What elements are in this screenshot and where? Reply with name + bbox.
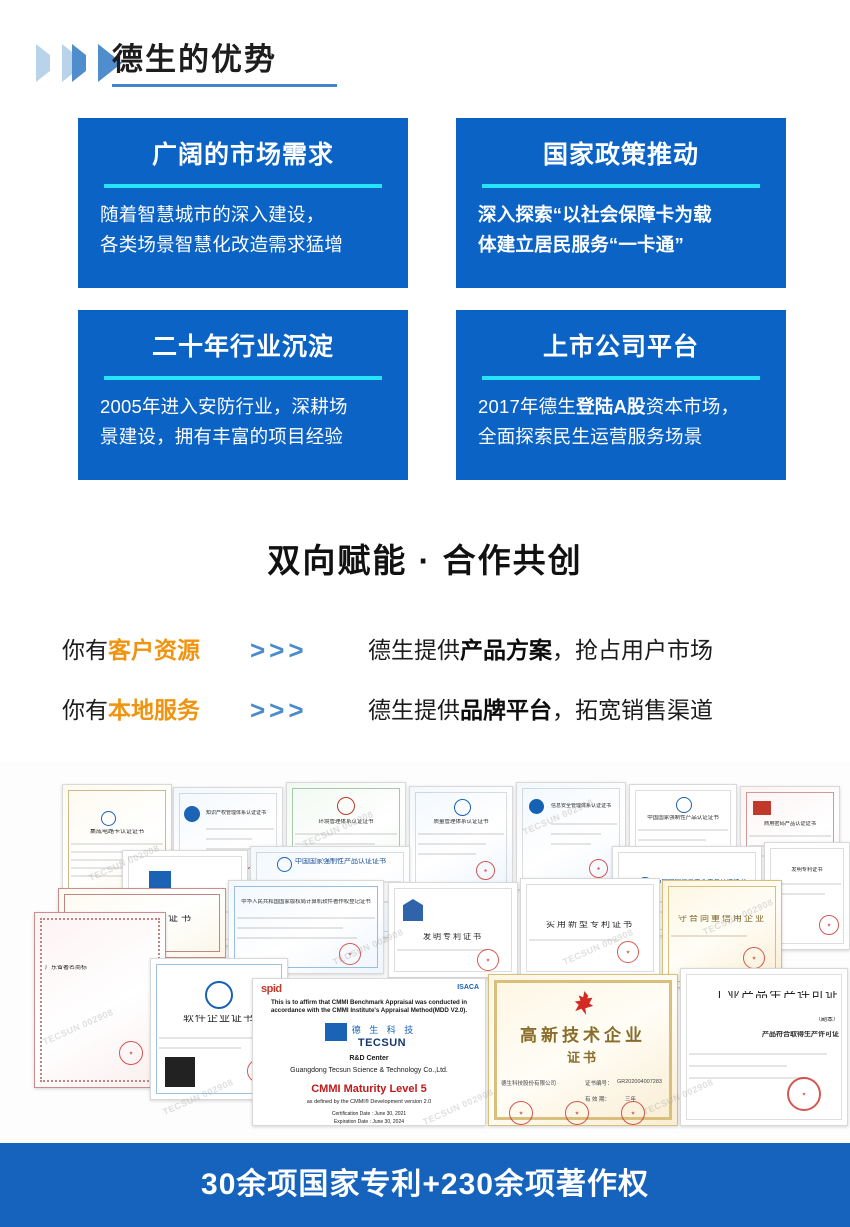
body-text-emphasis: 登陆A股 <box>576 396 646 417</box>
hitech-subtitle: 证书 <box>489 1047 677 1066</box>
cqc-logo-icon <box>753 801 771 815</box>
certificate-title: 中国国家强制性产品认证证书 <box>634 815 732 822</box>
certificate-title: 广东省著名商标 <box>45 965 155 972</box>
official-seal-icon <box>819 915 839 935</box>
certificate-title: 知识产权管理体系认证证书 <box>206 810 278 817</box>
tecsun-brand-en: TECSUN <box>279 1037 485 1049</box>
cvc-badge-icon <box>454 799 471 816</box>
synergy-section: 双向赋能 · 合作共创 你有客户资源 >>> 德生提供产品方案，抢占用户市场 你… <box>0 520 850 750</box>
advantage-card-body-line1: 深入探索“以社会保障卡为载 <box>478 200 770 230</box>
synergy-company-offer: 德生提供产品方案，抢占用户市场 <box>368 630 713 670</box>
advantage-card-body-line2: 全面探索民生运营服务场景 <box>478 422 770 452</box>
qr-code-icon <box>165 1057 195 1087</box>
synergy-left-prefix: 你有 <box>62 697 108 723</box>
certificate-title: 工业产品生产许可证 <box>689 991 839 998</box>
synergy-company-offer: 德生提供品牌平台，拓宽销售渠道 <box>368 690 713 730</box>
hitech-cert-no: GR202004007283 <box>617 1079 662 1085</box>
certificate-item[interactable]: 实用新型专利证书 <box>520 878 660 978</box>
advantage-card-body-line2: 体建立居民服务“一卡通” <box>478 230 770 260</box>
synergy-right-prefix: 德生提供 <box>368 697 460 723</box>
certificate-title: 发明专利证书 <box>393 933 513 940</box>
cmmi-company: Guangdong Tecsun Science & Technology Co… <box>259 1067 479 1075</box>
official-seal-icon <box>787 1077 821 1111</box>
advantage-card-title: 二十年行业沉淀 <box>78 331 408 363</box>
official-seal-icon <box>477 949 499 971</box>
official-seal-icon <box>476 861 495 880</box>
advantage-card-body: 2005年进入安防行业，深耕场 景建设，拥有丰富的项目经验 <box>100 392 392 452</box>
advantage-card-listed-company[interactable]: 上市公司平台 2017年德生登陆A股资本市场， 全面探索民生运营服务场景 <box>456 310 786 480</box>
advantage-card-body: 深入探索“以社会保障卡为载 体建立居民服务“一卡通” <box>478 200 770 260</box>
section-header: 德生的优势 <box>0 0 850 112</box>
hitech-cert-no-label: 证书编号： <box>585 1079 613 1087</box>
advantage-card-title: 国家政策推动 <box>456 139 786 171</box>
synergy-left-prefix: 你有 <box>62 637 108 663</box>
cmmi-statement-line2: accordance with the CMMI Institute's App… <box>259 1007 479 1015</box>
hitech-title: 高新技术企业 <box>489 1021 677 1046</box>
certificate-subtitle: （副本） <box>689 1017 839 1024</box>
icc-badge-icon <box>101 811 116 826</box>
body-text-post: 资本市场， <box>646 396 740 417</box>
certificate-item[interactable]: 信息安全管理体系认证证书 <box>516 782 626 890</box>
certificate-item[interactable]: 工业产品生产许可证 （副本） 产品符合取得生产许可证 <box>680 968 848 1126</box>
synergy-right-highlight: 产品方案 <box>460 637 552 663</box>
tecsun-brand-cn: 德 生 科 技 <box>283 1023 485 1036</box>
card-divider <box>482 184 760 188</box>
certificate-collage: 集成电路卡认证证书 知识产权管理体系认证证书 环境管理体系认证证书 质量管理体系… <box>0 762 850 1142</box>
card-divider <box>104 184 382 188</box>
advantage-card-body-line1: 2017年德生登陆A股资本市场， <box>478 392 770 422</box>
bottom-banner: 30余项国家专利+230余项著作权 <box>0 1143 850 1227</box>
page-title: 德生的优势 <box>112 39 277 81</box>
advantage-card-title: 广阔的市场需求 <box>78 139 408 171</box>
certificate-title: 中华人民共和国国家版权局计算机软件著作权登记证书 <box>233 899 379 906</box>
advantage-card-grid: 广阔的市场需求 随着智慧城市的深入建设， 各类场景智慧化改造需求猛增 国家政策推… <box>0 118 850 488</box>
certificate-line: 产品符合取得生产许可证 <box>689 1031 839 1038</box>
advantage-card-body-line2: 各类场景智慧化改造需求猛增 <box>100 230 392 260</box>
synergy-right-suffix: ，拓宽销售渠道 <box>552 697 713 723</box>
certificate-title: 发明专利证书 <box>769 867 845 874</box>
synergy-row: 你有本地服务 >>> 德生提供品牌平台，拓宽销售渠道 <box>0 690 850 730</box>
synergy-right-highlight: 品牌平台 <box>460 697 552 723</box>
advantage-card-body-line1: 随着智慧城市的深入建设， <box>100 200 392 230</box>
certificate-title: 集成电路卡认证证书 <box>67 829 167 836</box>
ceprei-logo-icon <box>184 806 200 822</box>
advantage-card-body-line2: 景建设，拥有丰富的项目经验 <box>100 422 392 452</box>
synergy-partner-offer: 你有本地服务 <box>62 690 200 730</box>
synergy-right-suffix: ，抢占用户市场 <box>552 637 713 663</box>
ceprei-logo-icon <box>529 799 544 814</box>
spid-logo-icon: spid <box>261 983 282 995</box>
hitech-valid-label: 有 效 期： <box>585 1095 610 1103</box>
official-seal-icon <box>119 1041 143 1065</box>
csel-csia-badge-icon <box>205 981 233 1009</box>
ccc-badge-icon <box>676 797 692 813</box>
advantage-card-national-policy[interactable]: 国家政策推动 深入探索“以社会保障卡为载 体建立居民服务“一卡通” <box>456 118 786 288</box>
chevron-double-right-icon <box>36 44 122 82</box>
issuer-logo-icon <box>149 871 171 889</box>
cmmi-statement-line1: This is to affirm that CMMI Benchmark Ap… <box>259 999 479 1007</box>
synergy-title: 双向赋能 · 合作共创 <box>0 538 850 584</box>
cmmi-level: CMMI Maturity Level 5 <box>259 1083 479 1095</box>
official-seal-icon <box>589 859 608 878</box>
body-text-pre: 2017年德生 <box>478 396 576 417</box>
certificate-item[interactable]: 广东省著名商标 <box>34 912 166 1088</box>
cmmi-unit: R&D Center <box>259 1055 479 1063</box>
synergy-left-highlight: 本地服务 <box>108 697 200 723</box>
certificate-title: 商用密码产品认证证书 <box>745 821 835 828</box>
certificate-title: 实用新型专利证书 <box>525 921 655 928</box>
official-seal-icon <box>617 941 639 963</box>
certificate-item[interactable]: 质量管理体系认证证书 <box>409 786 513 890</box>
synergy-row: 你有客户资源 >>> 德生提供产品方案，抢占用户市场 <box>0 630 850 670</box>
advantage-card-market-demand[interactable]: 广阔的市场需求 随着智慧城市的深入建设， 各类场景智慧化改造需求猛增 <box>78 118 408 288</box>
hitech-company: 德生科技股份有限公司 <box>501 1079 556 1087</box>
official-seal-icon <box>621 1101 645 1125</box>
synergy-partner-offer: 你有客户资源 <box>62 630 200 670</box>
title-underline <box>112 84 337 87</box>
cmmi-defined-by: as defined by the CMMI® Development vers… <box>259 1098 479 1106</box>
advantage-card-industry-experience[interactable]: 二十年行业沉淀 2005年进入安防行业，深耕场 景建设，拥有丰富的项目经验 <box>78 310 408 480</box>
advantage-card-title: 上市公司平台 <box>456 331 786 363</box>
arrow-right-icon: >>> <box>250 630 308 670</box>
ccc-badge-icon <box>277 857 292 872</box>
certificate-title: 中国国家强制性产品认证证书 <box>295 858 405 865</box>
cvc-badge-icon <box>337 797 355 815</box>
cmmi-expiration-date: Expiration Date : June 30, 2024 <box>259 1118 479 1126</box>
card-divider <box>104 376 382 380</box>
advantage-card-body: 随着智慧城市的深入建设， 各类场景智慧化改造需求猛增 <box>100 200 392 260</box>
advantage-card-body-line1: 2005年进入安防行业，深耕场 <box>100 392 392 422</box>
official-seal-icon <box>509 1101 533 1125</box>
isaca-logo-icon: ISACA <box>457 984 479 991</box>
certificate-title: 质量管理体系认证证书 <box>414 819 508 826</box>
official-seal-icon <box>565 1101 589 1125</box>
synergy-right-prefix: 德生提供 <box>368 637 460 663</box>
synergy-left-highlight: 客户资源 <box>108 637 200 663</box>
certificate-item[interactable]: 发明专利证书 <box>388 882 518 978</box>
arrow-right-icon: >>> <box>250 690 308 730</box>
bottom-banner-text: 30余项国家专利+230余项著作权 <box>0 1165 850 1205</box>
advantage-card-body: 2017年德生登陆A股资本市场， 全面探索民生运营服务场景 <box>478 392 770 452</box>
card-divider <box>482 376 760 380</box>
official-seal-icon <box>743 947 765 969</box>
